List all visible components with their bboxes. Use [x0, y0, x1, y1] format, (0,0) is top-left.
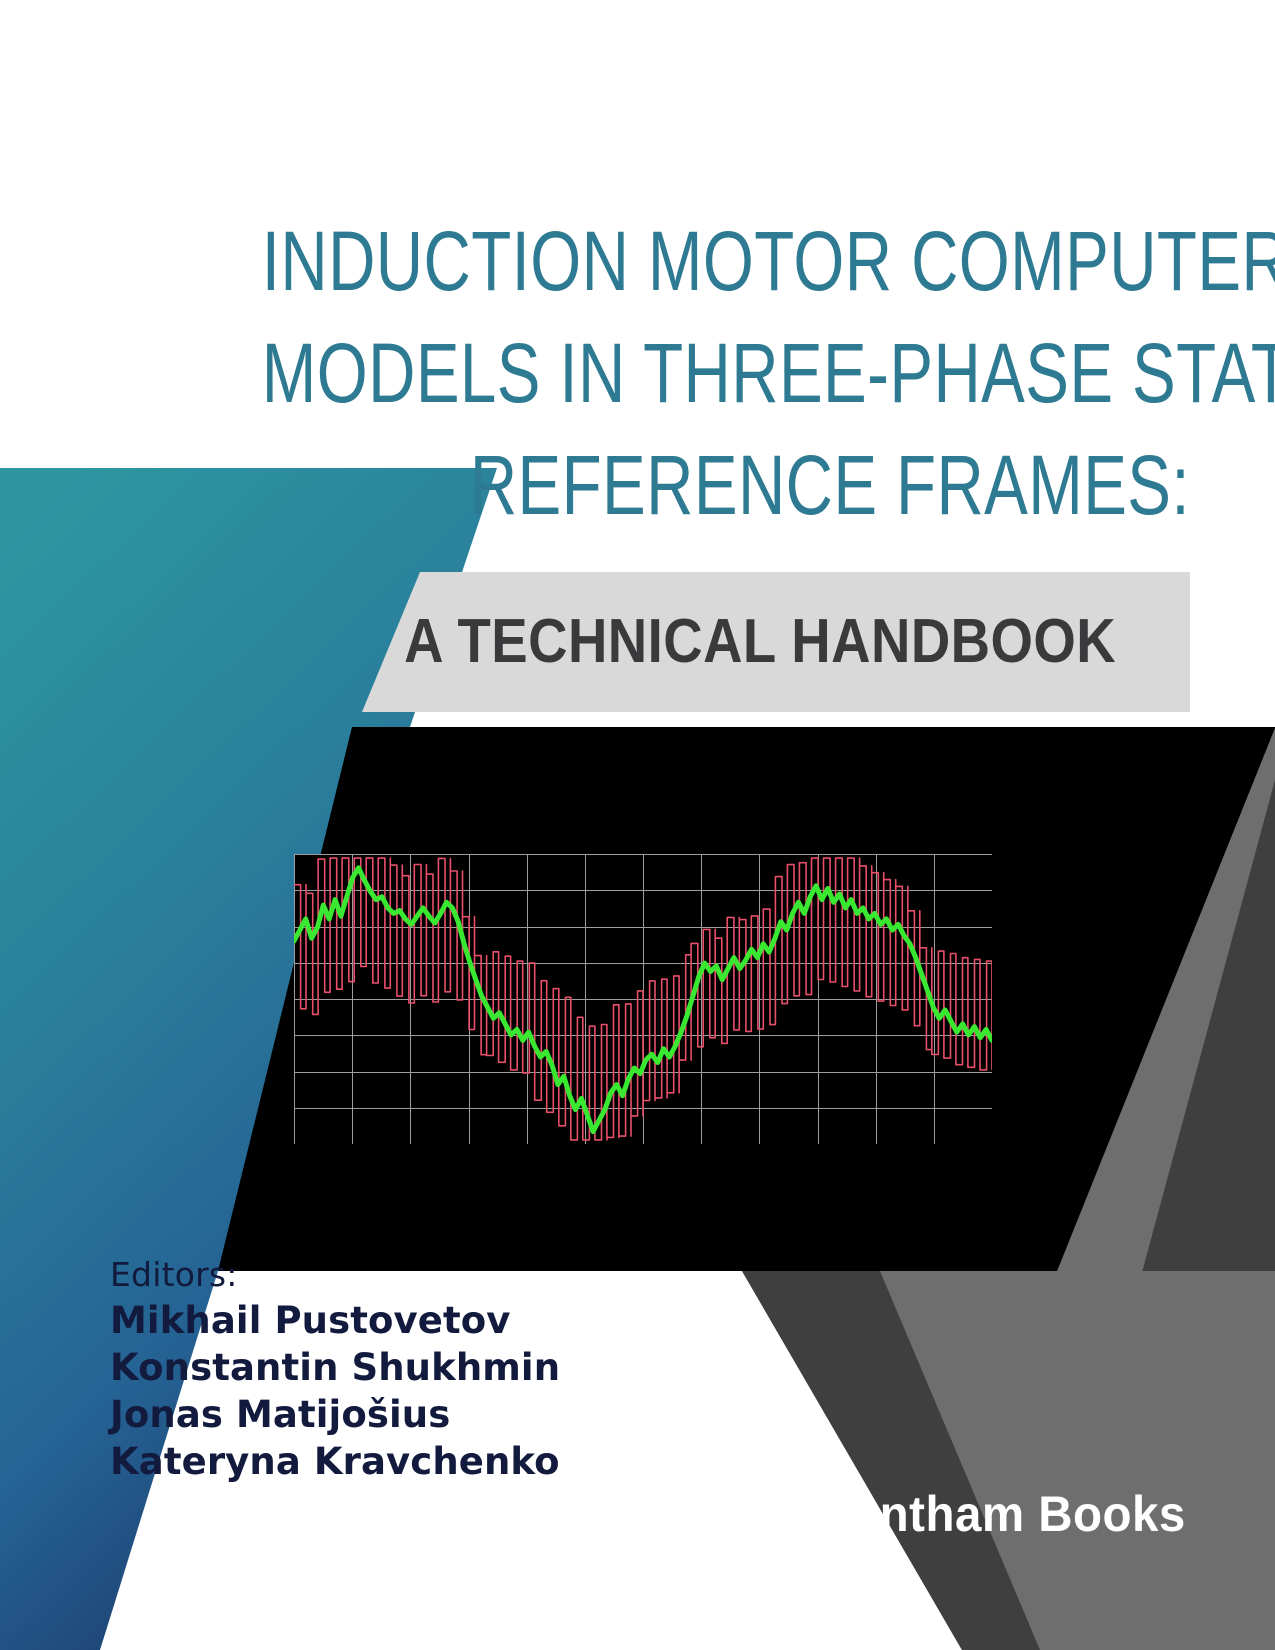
editor-name-4: Kateryna Kravchenko [110, 1438, 560, 1485]
publisher-name: Bentham Books [818, 1487, 1186, 1541]
subtitle-banner: A TECHNICAL HANDBOOK [362, 572, 1190, 712]
title-line-1: INDUCTION MOTOR COMPUTER [262, 205, 1190, 317]
editor-name-1: Mikhail Pustovetov [110, 1297, 560, 1344]
book-cover: INDUCTION MOTOR COMPUTER MODELS IN THREE… [0, 0, 1275, 1650]
title-line-3: REFERENCE FRAMES: [262, 429, 1190, 541]
editors-block: Editors: Mikhail Pustovetov Konstantin S… [110, 1252, 560, 1485]
editors-label: Editors: [110, 1252, 560, 1297]
editor-name-2: Konstantin Shukhmin [110, 1344, 560, 1391]
editor-name-3: Jonas Matijošius [110, 1391, 560, 1438]
oscilloscope-chart [294, 854, 992, 1144]
title-line-2: MODELS IN THREE-PHASE STATOR [262, 317, 1190, 429]
book-subtitle: A TECHNICAL HANDBOOK [404, 611, 1116, 673]
book-title: INDUCTION MOTOR COMPUTER MODELS IN THREE… [0, 205, 1190, 541]
